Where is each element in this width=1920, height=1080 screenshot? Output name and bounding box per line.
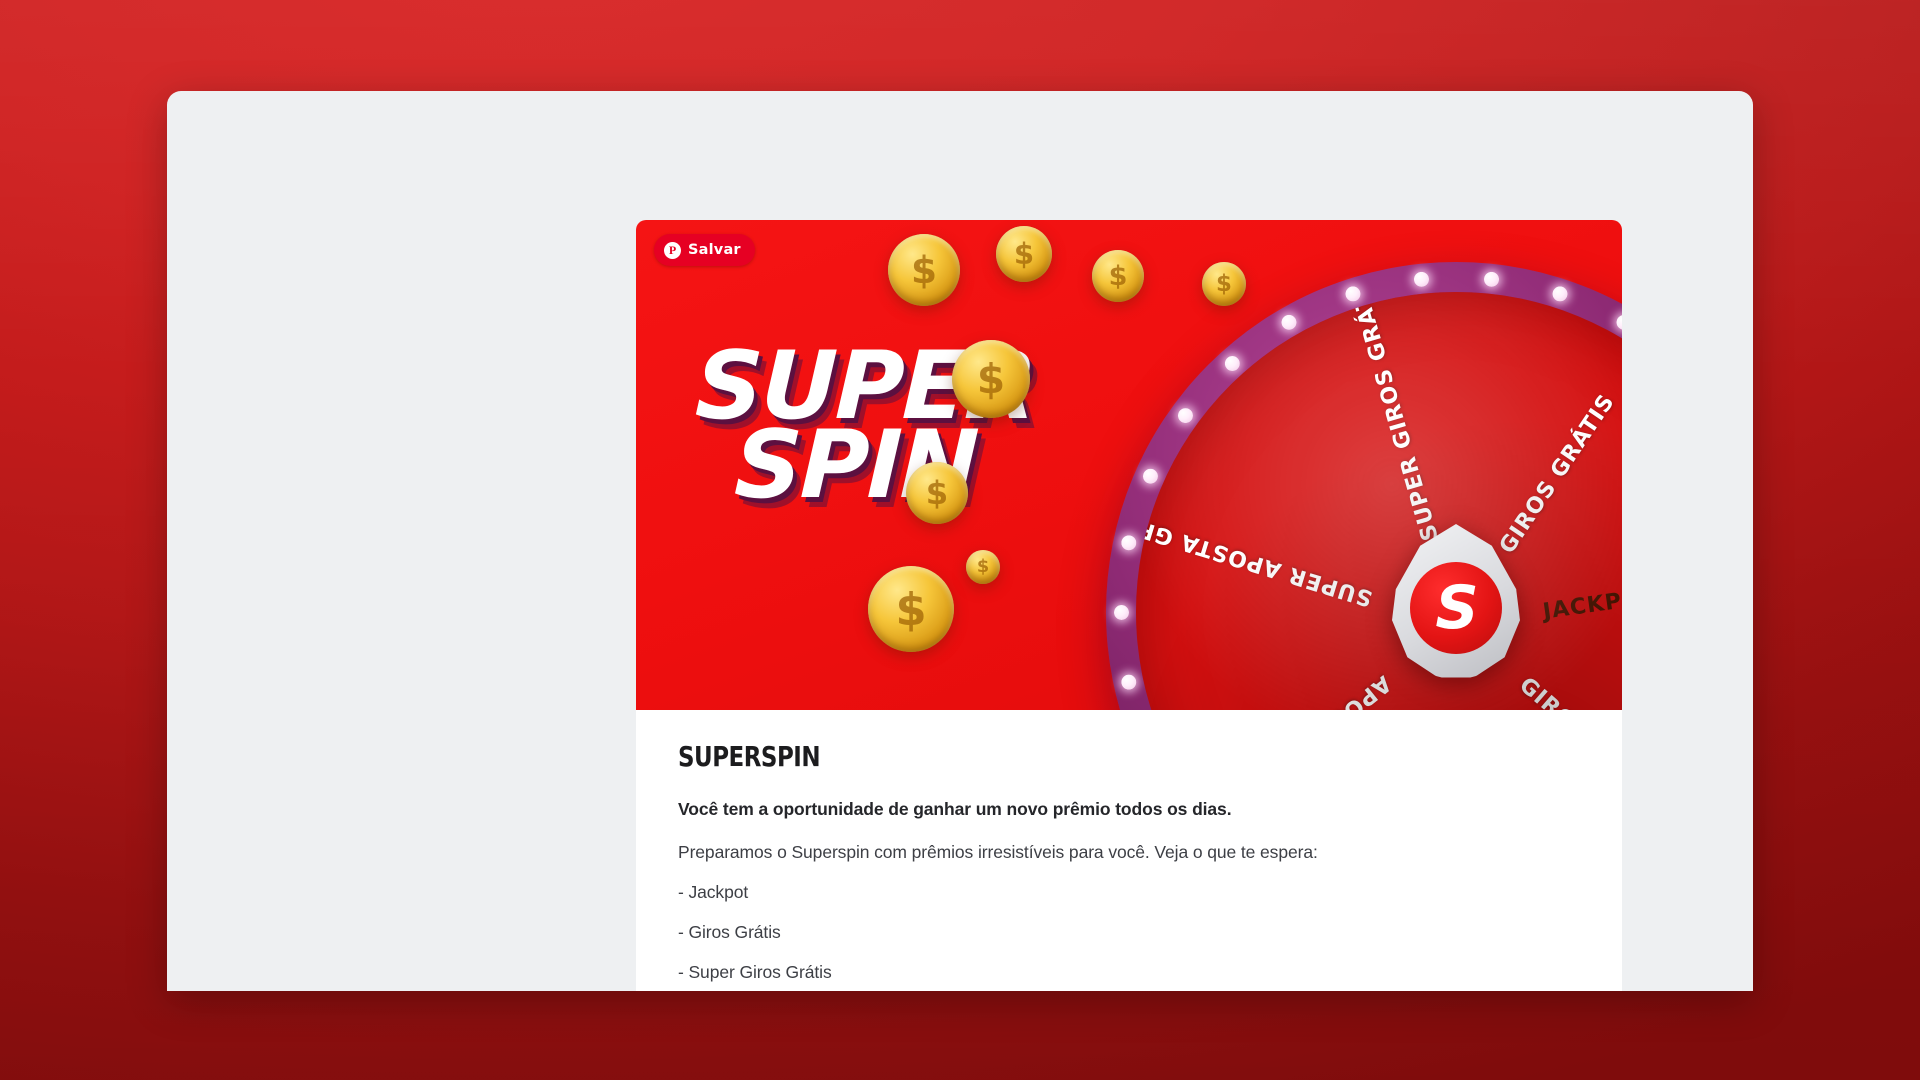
prize-item: - Giros Grátis: [678, 922, 1580, 943]
coin-icon: [888, 234, 960, 306]
app-shell-panel: P Salvar SUPER SPIN JACKPOTGIROS GRÁTISS…: [167, 91, 1753, 991]
wheel-bulb: [1484, 271, 1499, 286]
prize-list: - Jackpot- Giros Grátis- Super Giros Grá…: [678, 882, 1580, 991]
coin-icon: [1202, 262, 1246, 306]
coin-icon: [966, 550, 1000, 584]
lead-paragraph: Você tem a oportunidade de ganhar um nov…: [678, 799, 1580, 820]
promo-banner: P Salvar SUPER SPIN JACKPOTGIROS GRÁTISS…: [636, 220, 1622, 710]
content-card: P Salvar SUPER SPIN JACKPOTGIROS GRÁTISS…: [636, 220, 1622, 991]
pinterest-save-button[interactable]: P Salvar: [654, 234, 755, 266]
wheel-face: JACKPOTGIROS GRÁTISSEM VITÓRIAAPOSTA GRÁ…: [1136, 292, 1622, 710]
wheel-bulb: [1121, 535, 1136, 550]
hub-disc: S: [1410, 562, 1502, 654]
coin-icon: [996, 226, 1052, 282]
page-title: SUPERSPIN: [678, 740, 1418, 773]
prize-item: - Jackpot: [678, 882, 1580, 903]
wheel-bulb: [1114, 605, 1129, 620]
intro-paragraph: Preparamos o Superspin com prêmios irres…: [678, 842, 1580, 863]
prize-wheel[interactable]: JACKPOTGIROS GRÁTISSEM VITÓRIAAPOSTA GRÁ…: [1106, 262, 1622, 710]
prize-item: - Super Giros Grátis: [678, 962, 1580, 983]
coin-icon: [952, 340, 1030, 418]
coin-icon: [1092, 250, 1144, 302]
card-body: SUPERSPIN Você tem a oportunidade de gan…: [636, 710, 1622, 991]
pinterest-icon: P: [664, 242, 681, 259]
save-button-label: Salvar: [688, 242, 741, 258]
coin-icon: [906, 462, 968, 524]
wheel-bulb: [1121, 674, 1136, 689]
hub-letter: S: [1435, 578, 1476, 638]
coin-icon: [868, 566, 954, 652]
wheel-hub-logo: S: [1392, 524, 1520, 679]
wheel-bulb: [1413, 271, 1428, 286]
